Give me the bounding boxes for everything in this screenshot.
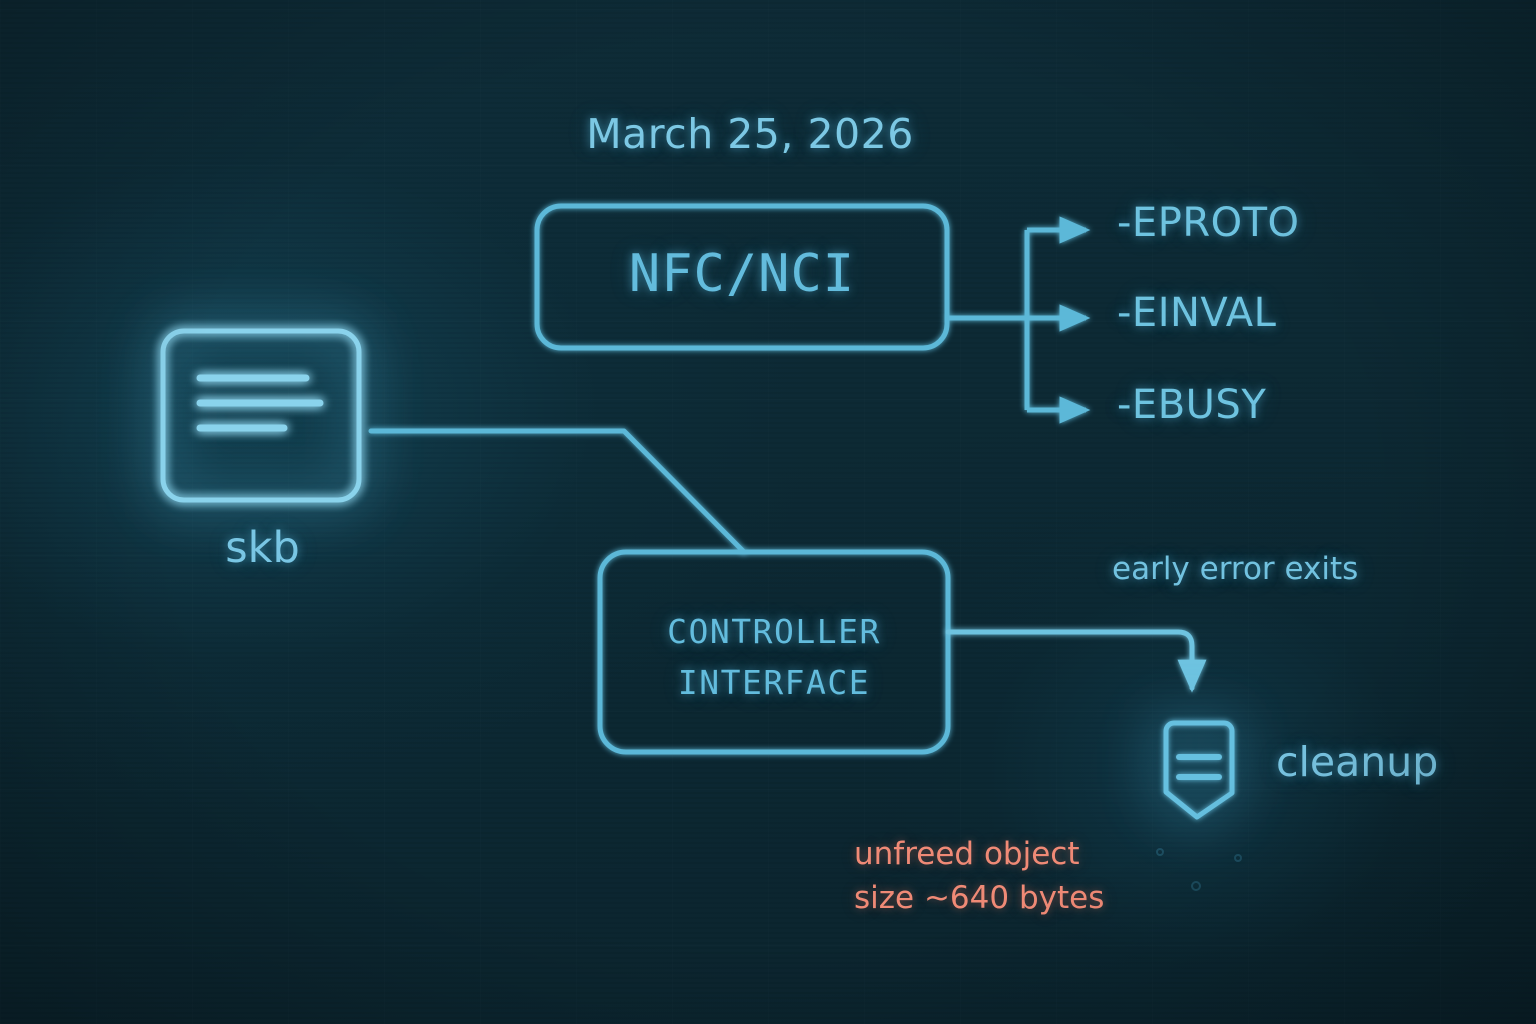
skb-icon-halo: [163, 331, 359, 500]
connector-skb-to-controller: [371, 431, 744, 552]
decorative-specks: [1157, 849, 1241, 890]
diagram-canvas: March 25, 2026 NFC/NCI CONTROLLERINTERFA…: [0, 0, 1536, 1024]
controller-label-line2: INTERFACE: [678, 663, 870, 702]
skb-buffer-icon: [163, 331, 359, 500]
connector-controller-to-cleanup: [948, 632, 1192, 688]
skb-caption: skb: [165, 524, 360, 572]
nfc-nci-label: NFC/NCI: [537, 245, 947, 303]
cleanup-caption: cleanup: [1276, 740, 1438, 786]
warning-line1: unfreed object: [854, 836, 1079, 872]
warning-line2: size ~640 bytes: [854, 880, 1104, 916]
controller-interface-label: CONTROLLERINTERFACE: [600, 606, 948, 708]
early-error-exits-label: early error exits: [1112, 552, 1358, 587]
controller-label-line1: CONTROLLER: [667, 612, 881, 651]
error-code-eproto: -EPROTO: [1117, 201, 1300, 246]
connector-nfc-to-errors: [947, 230, 1086, 410]
error-code-ebusy: -EBUSY: [1117, 383, 1266, 428]
date-text: March 25, 2026: [586, 112, 914, 158]
page-title-date: March 25, 2026: [0, 112, 1536, 158]
unfreed-object-warning: unfreed objectsize ~640 bytes: [854, 832, 1104, 920]
error-code-einval: -EINVAL: [1117, 291, 1276, 336]
